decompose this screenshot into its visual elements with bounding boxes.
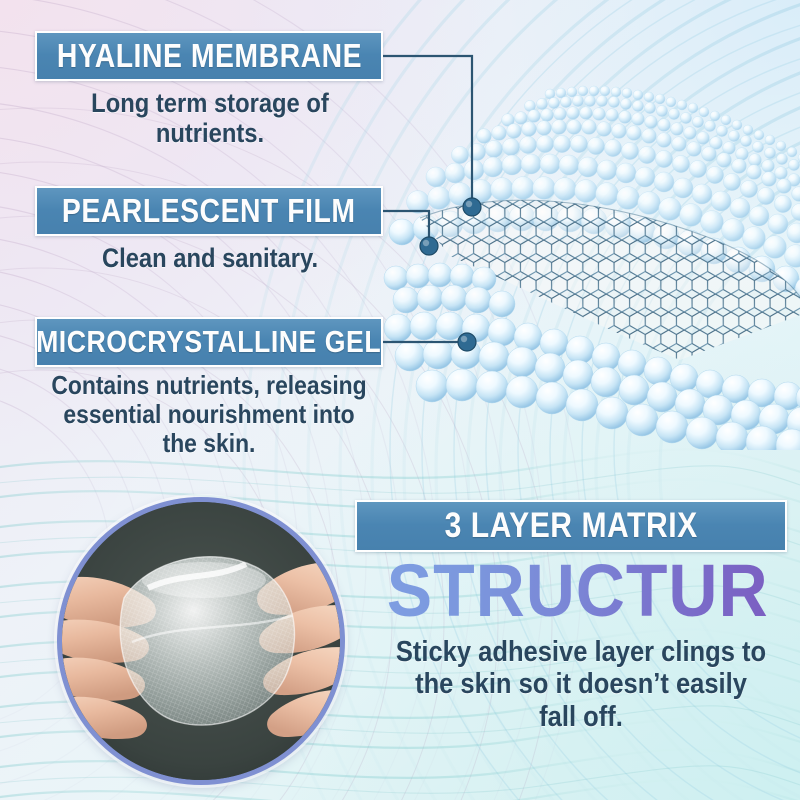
callout-description-2: Clean and sanitary.: [52, 243, 369, 273]
leader-dot-3: [458, 333, 476, 351]
honeycomb-mesh-layer: [380, 170, 800, 390]
headline-eyebrow-bar[interactable]: 3 LAYER MATRIX: [355, 500, 787, 552]
pearl-layer-bottom: [384, 263, 800, 450]
leader-line-2: [383, 211, 429, 245]
leader-line-1: [383, 56, 472, 205]
callout-bar-pearlescent-film[interactable]: PEARLESCENT FILM: [35, 186, 383, 236]
callout-title-1: HYALINE MEMBRANE: [56, 37, 361, 75]
callout-bar-microcrystalline-gel[interactable]: MICROCRYSTALLINE GEL: [35, 317, 383, 367]
product-photo-circle: [57, 497, 345, 785]
callout-bar-hyaline-membrane[interactable]: HYALINE MEMBRANE: [35, 31, 383, 81]
callout-title-2: PEARLESCENT FILM: [62, 192, 356, 230]
infographic-canvas: HYALINE MEMBRANE Long term storage of nu…: [0, 0, 800, 800]
headline-description: Sticky adhesive layer clings to the skin…: [392, 636, 770, 733]
headline-eyebrow: 3 LAYER MATRIX: [444, 506, 697, 546]
headline-title: STRUCTURE: [387, 552, 773, 630]
leader-dot-2: [420, 237, 438, 255]
callout-title-3: MICROCRYSTALLINE GEL: [36, 324, 381, 360]
leader-dot-1: [463, 198, 481, 216]
three-layer-matrix-illustration: [380, 60, 800, 450]
hands-stretching-gel-sheet-image: [62, 502, 340, 780]
callout-description-3: Contains nutrients, releasing essential …: [48, 371, 370, 458]
callout-description-1: Long term storage of nutrients.: [52, 88, 369, 148]
pearl-layer-top: [389, 86, 800, 302]
